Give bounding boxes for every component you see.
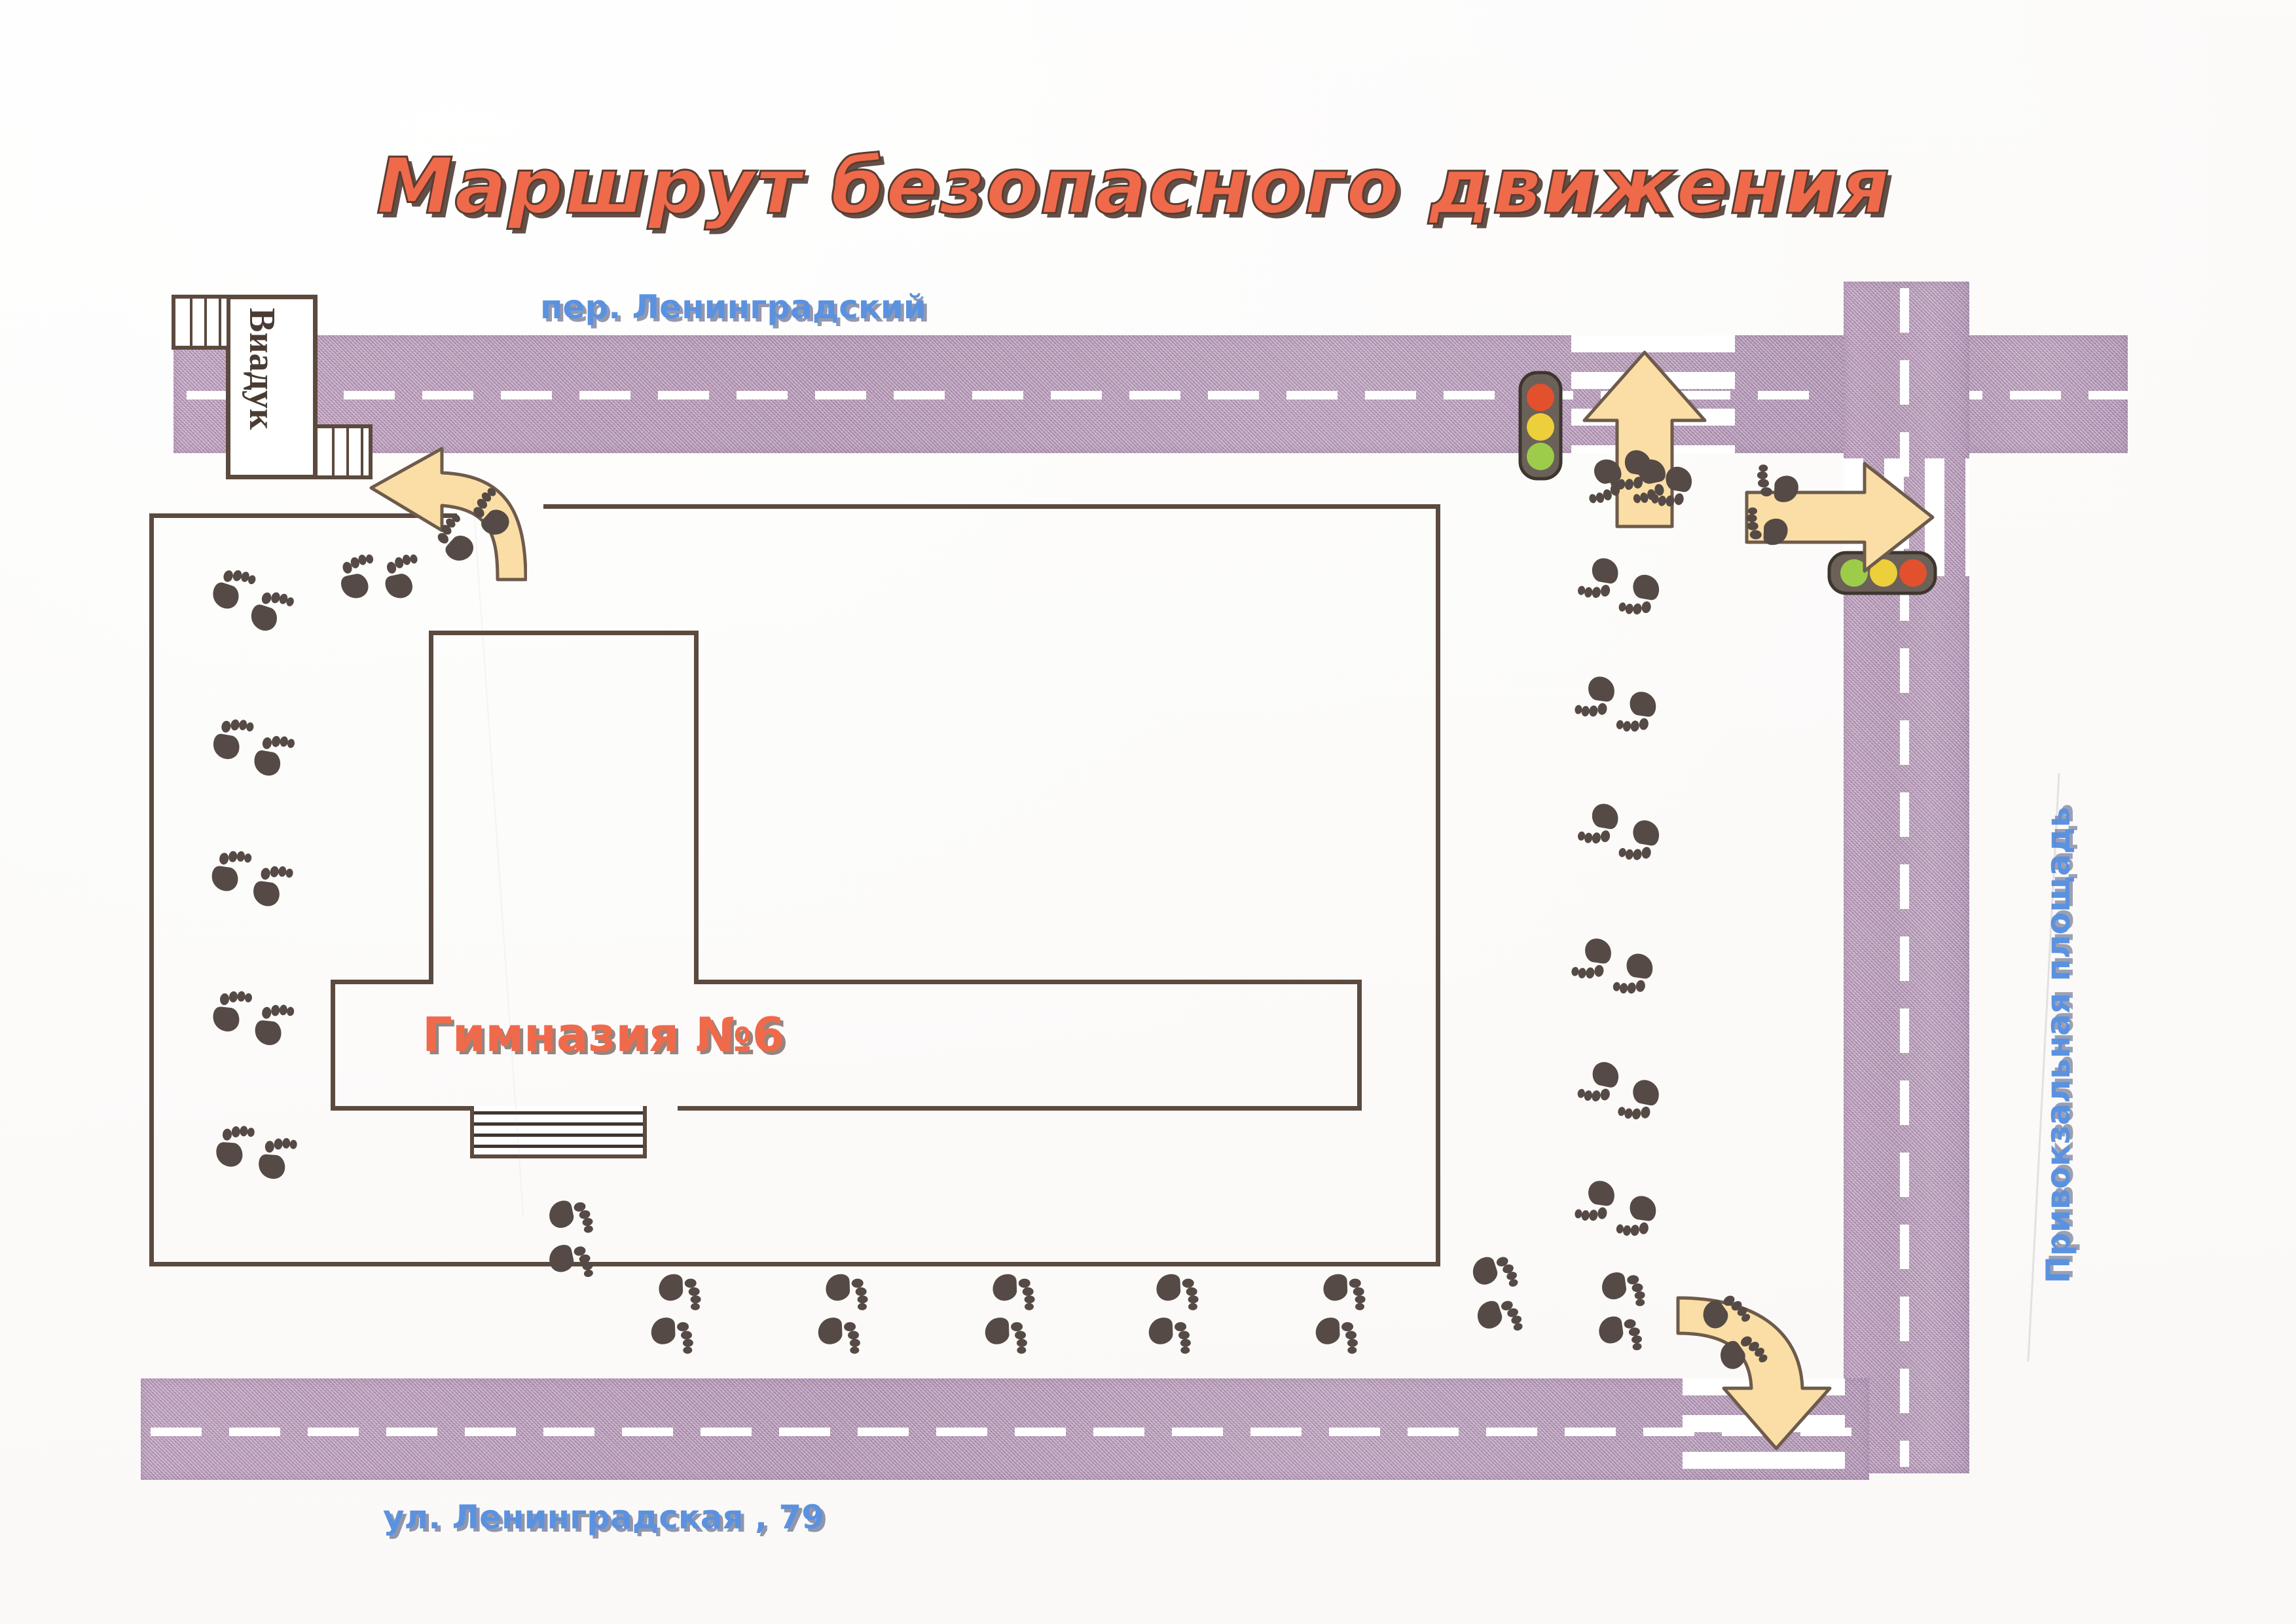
footprint-pair — [972, 1270, 1044, 1364]
footprint-pair — [211, 1116, 307, 1192]
road-bottom-centerline — [151, 1428, 1866, 1436]
schoolyard-border-bottom — [149, 1262, 1440, 1266]
safe-route-poster: Виадук Гимназия №6 Маршрут безопасного д… — [0, 0, 2296, 1624]
footprint-pair — [638, 1270, 710, 1364]
footprint-pair — [1565, 1046, 1669, 1132]
footprint-pair — [331, 535, 435, 621]
viaduct-stairs-left — [172, 295, 230, 350]
footprint-pair — [1566, 788, 1668, 872]
traffic-light-vertical — [1518, 370, 1563, 481]
footprint-pair — [206, 981, 304, 1059]
footprint-pair — [1563, 1166, 1664, 1247]
footprint-pair — [204, 840, 304, 921]
school-wall-far-right — [1357, 980, 1362, 1111]
footprint-pair — [200, 556, 308, 650]
footprint-pair — [1449, 1244, 1542, 1353]
footprint-pair — [1303, 1270, 1375, 1364]
school-wall-bottom-right — [678, 1106, 1362, 1111]
school-wall-bottom-left — [331, 1106, 471, 1111]
school-wall-mid-right — [694, 980, 1362, 984]
footprint-pair — [805, 1270, 877, 1364]
footprint-pair — [1580, 1264, 1660, 1365]
school-wall-top — [429, 631, 699, 635]
school-wall-right-upper — [694, 631, 699, 984]
school-wall-mid-left — [331, 980, 433, 984]
page-title: Маршрут безопасного движения — [376, 141, 1891, 231]
footprint-pair — [1566, 543, 1668, 627]
footprint-pair — [1738, 456, 1810, 550]
viaduct-label: Виадук — [241, 308, 283, 430]
school-wall-left-upper — [429, 631, 433, 984]
footprint-pair — [1136, 1270, 1208, 1364]
school-wall-left-lower — [331, 980, 335, 1111]
footprint-pair — [1563, 662, 1664, 743]
schoolyard-border-right — [1436, 504, 1440, 1266]
footprint-pair — [1560, 924, 1660, 1005]
street-label-bottom: ул. Ленинградская , 79 — [383, 1498, 824, 1536]
footprint-pair — [526, 1190, 613, 1295]
schoolyard-border-left — [149, 513, 154, 1266]
schoolyard-border-top-right-seg — [543, 504, 1440, 509]
school-name-label: Гимназия №6 — [422, 1007, 785, 1062]
school-entrance-steps — [470, 1106, 647, 1158]
footprint-pair — [204, 708, 306, 792]
square-label-right: Привокзальная площадь — [2039, 807, 2077, 1283]
street-label-top: пер. Ленинградский — [540, 288, 926, 326]
